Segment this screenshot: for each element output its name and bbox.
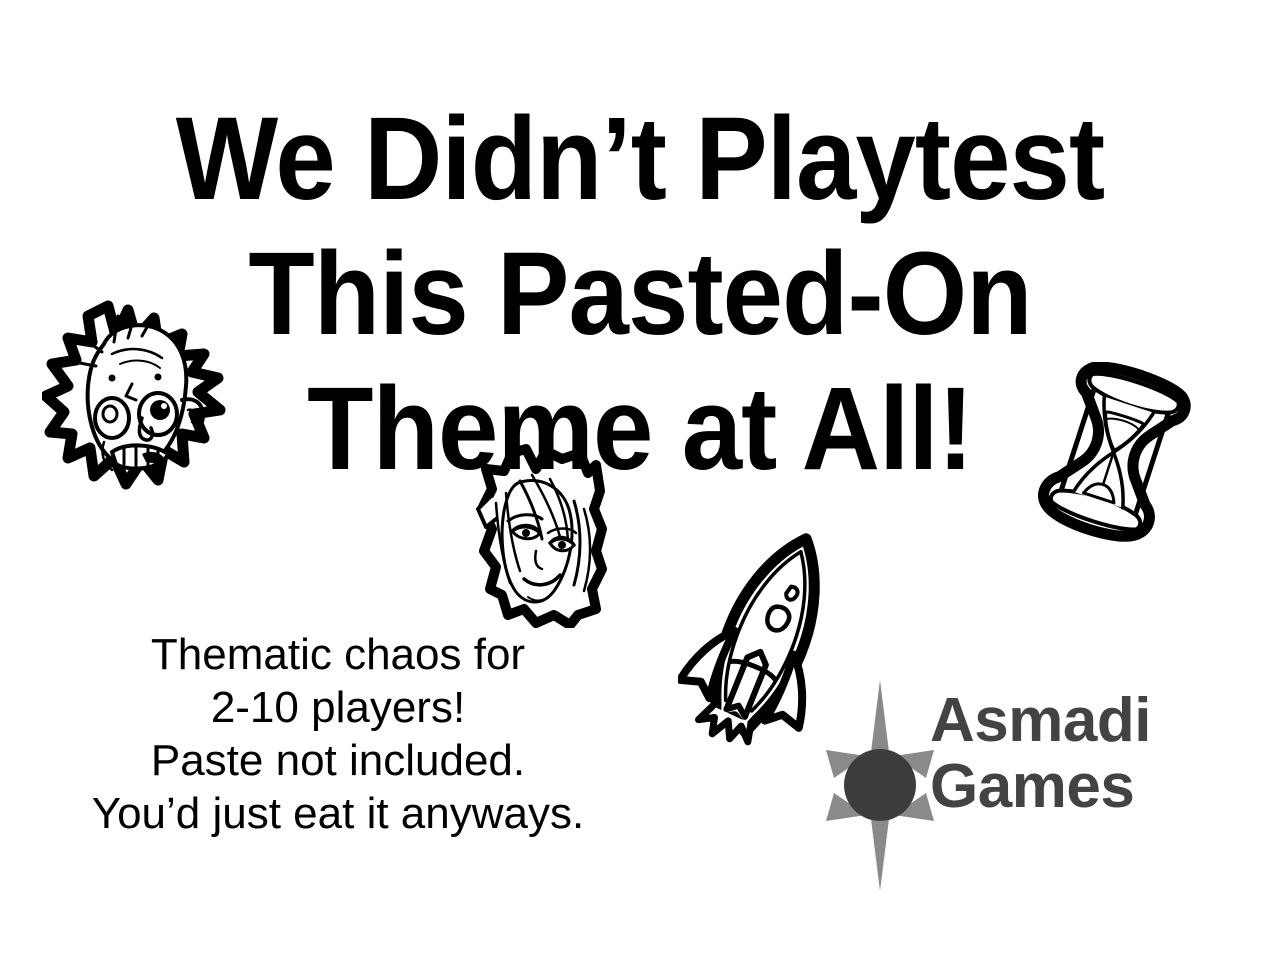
elf-face-illustration: [462, 443, 617, 628]
title-line-1: We Didn’t Playtest: [51, 92, 1229, 227]
box-cover: We Didn’t Playtest This Pasted-On Theme …: [0, 0, 1280, 960]
publisher-name-line-1: Asmadi: [930, 688, 1220, 754]
hourglass-illustration: [1022, 362, 1202, 552]
blurb-line-2: 2-10 players!: [18, 681, 658, 734]
publisher-logo: Asmadi Games: [820, 678, 1220, 893]
publisher-name-line-2: Games: [930, 754, 1220, 820]
blurb-block: Thematic chaos for 2-10 players! Paste n…: [18, 628, 658, 840]
zombie-head-illustration: [42, 292, 232, 497]
blurb-line-4: You’d just eat it anyways.: [18, 787, 658, 840]
rocket-ship-illustration: [678, 523, 853, 753]
publisher-name: Asmadi Games: [930, 688, 1220, 820]
blurb-line-3: Paste not included.: [18, 734, 658, 787]
blurb-line-1: Thematic chaos for: [18, 628, 658, 681]
